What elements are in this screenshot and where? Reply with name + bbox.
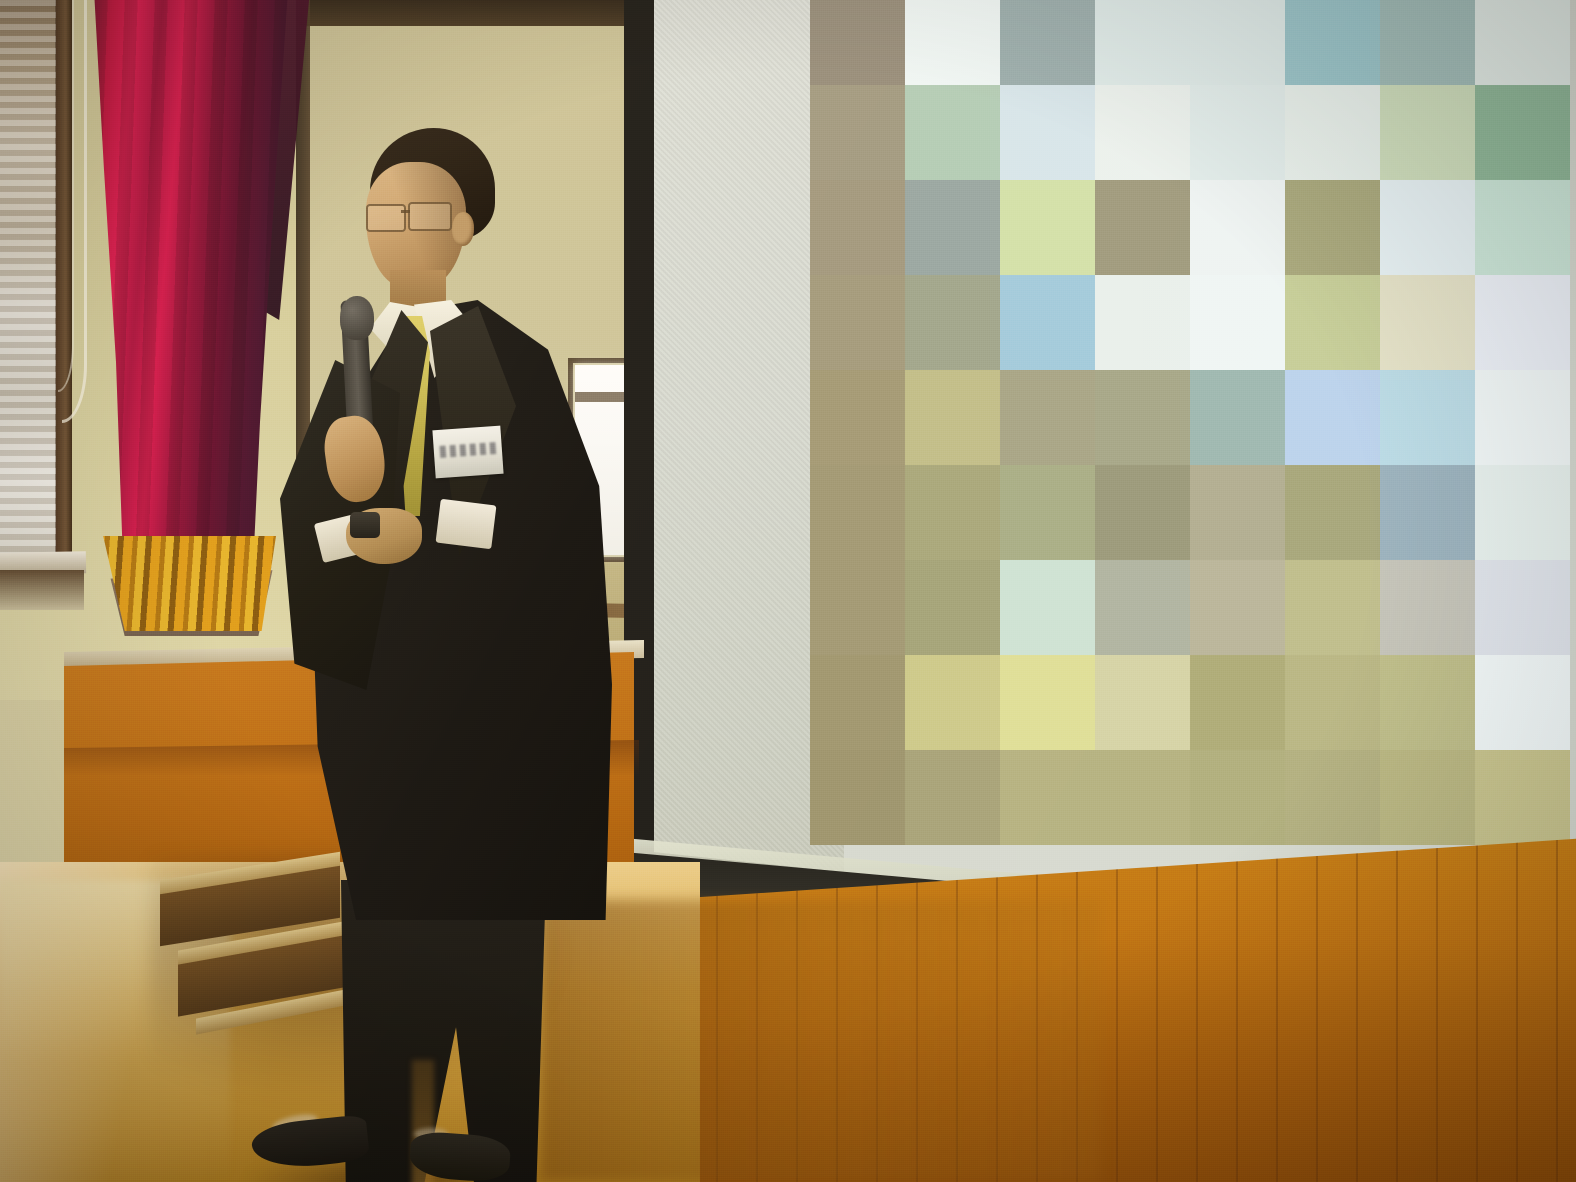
mosaic-cell-8-6 [1380, 750, 1475, 845]
mosaic-cell-8-5 [1285, 750, 1380, 845]
mosaic-cell-1-1 [905, 85, 1000, 180]
mosaic-cell-2-2 [1000, 180, 1095, 275]
eyeglasses-bridge [401, 210, 410, 213]
mosaic-cell-1-5 [1285, 85, 1380, 180]
mosaic-cell-7-1 [905, 655, 1000, 750]
name-badge [432, 426, 503, 479]
mosaic-cell-0-5 [1285, 0, 1380, 85]
mosaic-cell-5-4 [1190, 465, 1285, 560]
mosaic-cell-8-1 [905, 750, 1000, 845]
mosaic-cell-3-5 [1285, 275, 1380, 370]
mosaic-cell-4-5 [1285, 370, 1380, 465]
window-blinds [0, 0, 58, 600]
floor-shadow-right [540, 900, 1100, 1182]
mosaic-cell-5-2 [1000, 465, 1095, 560]
mosaic-cell-0-7 [1475, 0, 1570, 85]
mosaic-cell-0-0 [810, 0, 905, 85]
mosaic-cell-4-6 [1380, 370, 1475, 465]
mosaic-cell-3-4 [1190, 275, 1285, 370]
mosaic-cell-5-1 [905, 465, 1000, 560]
mosaic-cell-3-1 [905, 275, 1000, 370]
mosaic-cell-2-4 [1190, 180, 1285, 275]
mosaic-cell-2-1 [905, 180, 1000, 275]
mosaic-cell-3-2 [1000, 275, 1095, 370]
mosaic-cell-7-2 [1000, 655, 1095, 750]
mosaic-cell-3-7 [1475, 275, 1570, 370]
mosaic-cell-4-1 [905, 370, 1000, 465]
mosaic-cell-5-6 [1380, 465, 1475, 560]
mosaic-cell-4-0 [810, 370, 905, 465]
projection-screen [654, 0, 1576, 950]
shirt-cuff-right [436, 499, 497, 549]
mosaic-cell-3-6 [1380, 275, 1475, 370]
mosaic-cell-6-1 [905, 560, 1000, 655]
screen-pixelated-content [810, 0, 1570, 845]
mosaic-cell-0-3 [1095, 0, 1190, 85]
mosaic-cell-7-7 [1475, 655, 1570, 750]
mosaic-cell-4-2 [1000, 370, 1095, 465]
window-lower-shadow [0, 570, 84, 610]
mosaic-cell-1-6 [1380, 85, 1475, 180]
mosaic-cell-5-7 [1475, 465, 1570, 560]
mosaic-cell-3-3 [1095, 275, 1190, 370]
mosaic-cell-1-4 [1190, 85, 1285, 180]
eyeglasses-right-lens [408, 202, 452, 231]
mosaic-cell-7-5 [1285, 655, 1380, 750]
curtain-cord-secondary [58, 0, 74, 392]
mosaic-cell-2-7 [1475, 180, 1570, 275]
mosaic-cell-7-6 [1380, 655, 1475, 750]
mosaic-cell-4-4 [1190, 370, 1285, 465]
mosaic-cell-7-3 [1095, 655, 1190, 750]
mosaic-cell-4-3 [1095, 370, 1190, 465]
mosaic-cell-1-0 [810, 85, 905, 180]
mosaic-cell-1-3 [1095, 85, 1190, 180]
presenter [262, 120, 622, 1182]
mosaic-cell-2-0 [810, 180, 905, 275]
mosaic-cell-0-4 [1190, 0, 1285, 85]
mosaic-cell-6-3 [1095, 560, 1190, 655]
mosaic-cell-6-2 [1000, 560, 1095, 655]
mosaic-cell-6-0 [810, 560, 905, 655]
eyeglasses-left-lens [366, 204, 406, 232]
mosaic-cell-8-2 [1000, 750, 1095, 845]
presenter-ear [452, 212, 474, 246]
door-frame-top [300, 0, 680, 26]
mosaic-cell-0-2 [1000, 0, 1095, 85]
mosaic-cell-5-5 [1285, 465, 1380, 560]
mosaic-cell-6-4 [1190, 560, 1285, 655]
mosaic-cell-8-0 [810, 750, 905, 845]
mosaic-cell-8-3 [1095, 750, 1190, 845]
mosaic-cell-1-2 [1000, 85, 1095, 180]
mosaic-cell-5-3 [1095, 465, 1190, 560]
mosaic-cell-7-4 [1190, 655, 1285, 750]
mosaic-cell-2-6 [1380, 180, 1475, 275]
name-badge-text [440, 442, 497, 458]
mosaic-cell-6-6 [1380, 560, 1475, 655]
mosaic-cell-0-1 [905, 0, 1000, 85]
mosaic-cell-8-7 [1475, 750, 1570, 845]
mosaic-cell-3-0 [810, 275, 905, 370]
mosaic-cell-0-6 [1380, 0, 1475, 85]
mosaic-cell-7-0 [810, 655, 905, 750]
curtain-gold-fringe [96, 536, 276, 631]
mosaic-cell-2-3 [1095, 180, 1190, 275]
mosaic-cell-8-4 [1190, 750, 1285, 845]
mosaic-cell-6-5 [1285, 560, 1380, 655]
mosaic-cell-2-5 [1285, 180, 1380, 275]
mosaic-cell-5-0 [810, 465, 905, 560]
mosaic-cell-6-7 [1475, 560, 1570, 655]
mosaic-cell-4-7 [1475, 370, 1570, 465]
microphone-head-icon [340, 296, 374, 340]
photo-scene: A man in a dark suit with a yellow tie h… [0, 0, 1576, 1182]
presentation-remote [350, 512, 380, 538]
mosaic-cell-1-7 [1475, 85, 1570, 180]
